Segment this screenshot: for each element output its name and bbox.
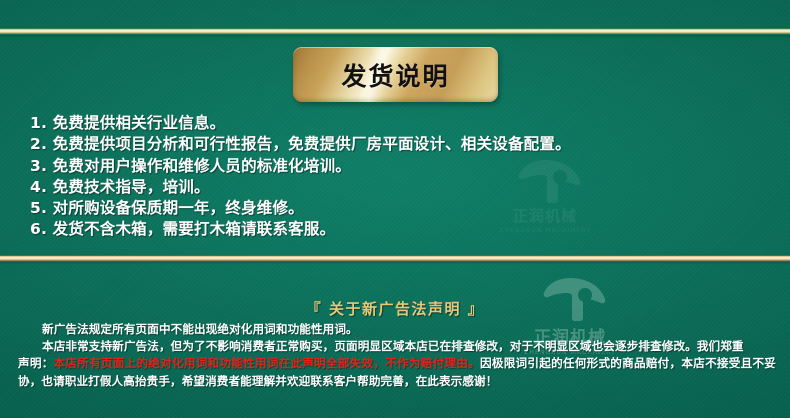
law-statement-heading: 『 关于新广告法声明 』 [0,298,790,319]
list-item: 5. 对所购设备保质期一年，终身维修。 [30,198,770,219]
list-item: 6. 发货不含木箱，需要打木箱请联系客服。 [30,219,770,240]
title-badge: 发货说明 [293,47,498,102]
gold-divider-middle [0,255,790,262]
law-line-3-label: 声明： [18,356,54,370]
shipping-instructions-banner: 发货说明 1. 免费提供相关行业信息。 2. 免费提供项目分析和可行性报告，免费… [0,0,790,418]
law-line-2: 本店非常支持新广告法，但为了不影响消费者正常购买，页面明显区域本店已在排查修改，… [42,339,744,353]
page-title: 发货说明 [341,57,449,93]
list-item: 1. 免费提供相关行业信息。 [30,113,770,134]
law-statement-body: 新广告法规定所有页面中不能出现绝对化用词和功能性用词。本店非常支持新广告法，但为… [18,321,776,390]
list-item: 3. 免费对用户操作和维修人员的标准化培训。 [30,156,770,177]
service-list: 1. 免费提供相关行业信息。 2. 免费提供项目分析和可行性报告，免费提供厂房平… [30,113,770,241]
law-line-3-highlight: 本店所有页面上的绝对化用词和功能性用词在此声明全部失效，不作为赔付理由。 [54,356,480,370]
law-line-1: 新广告法规定所有页面中不能出现绝对化用词和功能性用词。 [42,322,358,336]
list-item: 2. 免费提供项目分析和可行性报告，免费提供厂房平面设计、相关设备配置。 [30,134,770,155]
list-item: 4. 免费技术指导，培训。 [30,177,770,198]
gold-divider-top [0,28,790,35]
